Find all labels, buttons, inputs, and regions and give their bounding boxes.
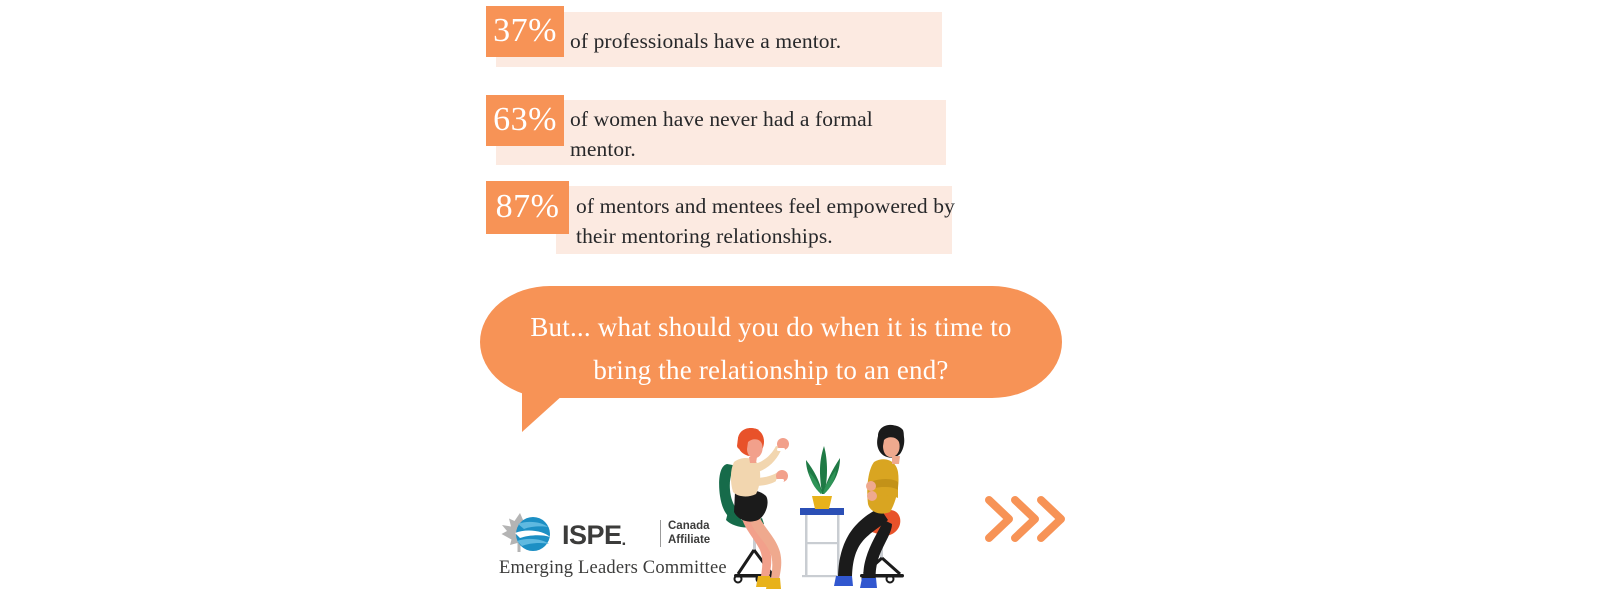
mentoring-scene-graphic bbox=[694, 424, 910, 589]
chevron-right-triple-icon bbox=[985, 492, 1065, 547]
ispe-wordmark-dot: . bbox=[622, 530, 626, 549]
stat-percent-value: 87% bbox=[496, 190, 560, 224]
callout-speech-bubble: But... what should you do when it is tim… bbox=[480, 286, 1062, 446]
two-women-mentoring-conversation-illustration bbox=[694, 424, 910, 589]
next-indicator[interactable] bbox=[985, 492, 1065, 547]
poster-canvas: 37% of professionals have a mentor. 63% … bbox=[0, 0, 1600, 589]
stat-percent-badge: 87% bbox=[486, 181, 569, 234]
ispe-wordmark-text: ISPE bbox=[562, 520, 622, 550]
callout-text: But... what should you do when it is tim… bbox=[500, 306, 1042, 392]
stat-description: of women have never had a formal mentor. bbox=[570, 104, 890, 164]
ispe-logo: ISPE. Canada Affiliate Emerging Leaders … bbox=[498, 510, 678, 589]
stat-percent-value: 63% bbox=[493, 103, 557, 137]
woman-dark-hair bbox=[834, 425, 904, 588]
stat-percent-badge: 37% bbox=[486, 6, 564, 57]
woman-red-hair bbox=[731, 428, 789, 589]
stat-percent-badge: 63% bbox=[486, 95, 564, 146]
stat-description: of professionals have a mentor. bbox=[570, 26, 950, 56]
stat-description: of mentors and mentees feel empowered by… bbox=[576, 191, 956, 251]
stat-percent-value: 37% bbox=[493, 14, 557, 48]
logo-divider bbox=[660, 520, 661, 547]
side-table-with-plant bbox=[800, 446, 844, 577]
logo-committee-label: Emerging Leaders Committee bbox=[499, 558, 727, 579]
ispe-wordmark: ISPE. bbox=[562, 522, 626, 549]
